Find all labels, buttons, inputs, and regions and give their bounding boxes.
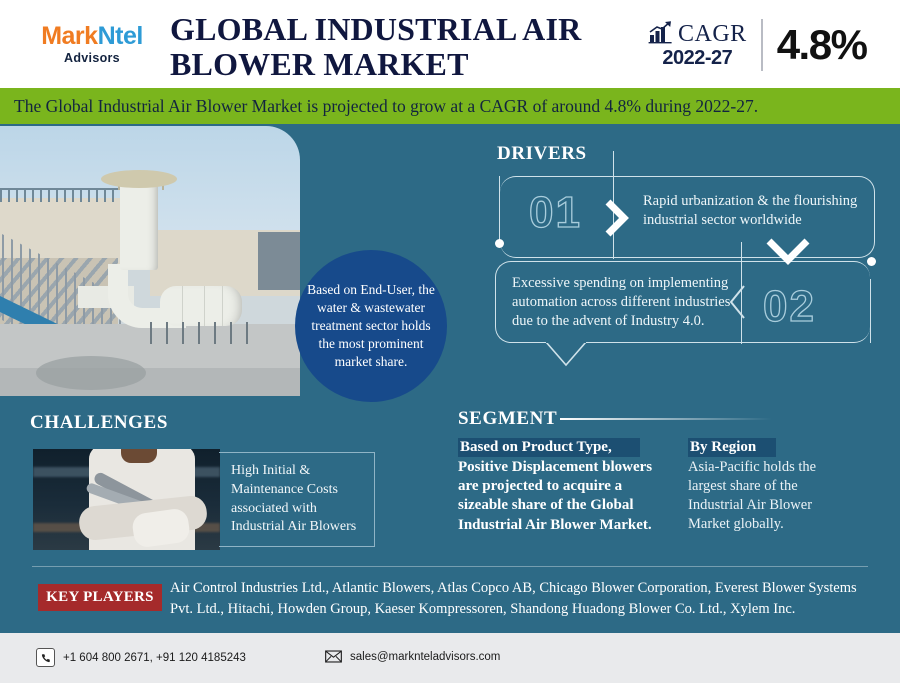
logo-part-mark: Mark	[41, 22, 97, 50]
driver-02-endpoint-dot	[867, 257, 876, 266]
footer-email[interactable]: sales@marknteladvisors.com	[325, 648, 500, 665]
driver-01-left-line	[499, 176, 500, 240]
cagr-block: CAGR 2022-27 4.8%	[648, 16, 866, 74]
infographic-page: MarkNtel Advisors GLOBAL INDUSTRIAL AIR …	[0, 0, 900, 683]
driver-02-number: 02	[763, 282, 816, 332]
highlight-banner: The Global Industrial Air Blower Market …	[0, 88, 900, 124]
photo-tank-seam	[222, 286, 223, 326]
challenges-photo	[33, 449, 220, 550]
photo-tank-seam	[182, 286, 183, 326]
logo-subtitle: Advisors	[22, 51, 162, 65]
challenges-heading: CHALLENGES	[30, 412, 168, 434]
chevron-right-icon	[604, 199, 630, 237]
segment-column-1-body: Asia-Pacific holds the largest share of …	[688, 458, 848, 533]
drivers-heading: DRIVERS	[497, 143, 587, 165]
photo-stack-cap	[101, 170, 177, 188]
driver-card-01: 01 Rapid urbanization & the flourishing …	[500, 176, 875, 258]
photo-support-legs	[150, 322, 250, 344]
driver-01-number: 01	[529, 188, 582, 238]
logo-wordmark: MarkNtel	[22, 24, 162, 49]
end-user-callout-text: Based on End-User, the water & wastewate…	[307, 281, 435, 370]
cagr-label-row: CAGR	[648, 20, 747, 49]
photo-railing-top	[0, 188, 118, 202]
banner-text: The Global Industrial Air Blower Market …	[0, 96, 758, 117]
footer-phone-text: +1 604 800 2671, +91 120 4185243	[63, 652, 246, 664]
segment-column-0-head: Based on Product Type,	[458, 438, 640, 457]
driver-card-02: 02 Excessive spending on implementing au…	[495, 261, 870, 343]
driver-01-text: Rapid urbanization & the flourishing ind…	[643, 192, 858, 230]
cagr-value: 4.8%	[777, 21, 867, 69]
footer: +1 604 800 2671, +91 120 4185243 sales@m…	[0, 633, 900, 683]
photo-blower-stack	[120, 182, 158, 270]
phone-icon	[36, 648, 55, 667]
segment-heading: SEGMENT	[458, 408, 557, 430]
driver-01-endpoint-dot	[495, 239, 504, 248]
key-players-badge: KEY PLAYERS	[38, 584, 162, 611]
segment-column-region: By Region Asia-Pacific holds the largest…	[688, 438, 848, 533]
key-players-list: Air Control Industries Ltd., Atlantic Bl…	[170, 578, 870, 619]
photo-tank-seam	[204, 286, 205, 326]
chevron-down-icon	[764, 238, 812, 266]
footer-phone[interactable]: +1 604 800 2671, +91 120 4185243	[36, 648, 246, 667]
cagr-label: CAGR	[678, 21, 747, 48]
driver-02-right-line	[870, 279, 871, 343]
cagr-period: 2022-27	[662, 47, 732, 70]
photo-tank	[160, 286, 242, 326]
brand-logo[interactable]: MarkNtel Advisors	[22, 24, 162, 65]
challenges-photo-collar	[121, 449, 157, 463]
speech-bubble-tail-icon	[544, 341, 588, 367]
envelope-icon	[325, 648, 342, 665]
bar-chart-growth-icon	[648, 20, 674, 49]
key-players-divider	[32, 566, 868, 567]
end-user-callout: Based on End-User, the water & wastewate…	[295, 250, 447, 402]
hero-photo	[0, 126, 300, 396]
photo-building-right	[258, 232, 300, 290]
cagr-divider	[761, 19, 763, 71]
segment-column-0-body: Positive Displacement blowers are projec…	[458, 458, 668, 535]
header: MarkNtel Advisors GLOBAL INDUSTRIAL AIR …	[0, 0, 900, 88]
driver-02-text: Excessive spending on implementing autom…	[512, 274, 734, 331]
cagr-label-group: CAGR 2022-27	[648, 20, 747, 70]
page-title: GLOBAL INDUSTRIAL AIR BLOWER MARKET	[170, 12, 630, 81]
photo-shadow	[36, 356, 146, 390]
segment-column-1-head: By Region	[688, 438, 776, 457]
challenges-text-box: High Initial & Maintenance Costs associa…	[219, 452, 375, 547]
footer-email-text: sales@marknteladvisors.com	[350, 651, 500, 663]
challenges-text: High Initial & Maintenance Costs associa…	[219, 462, 374, 538]
logo-part-ntel: Ntel	[98, 22, 143, 50]
segment-column-product-type: Based on Product Type, Positive Displace…	[458, 438, 668, 535]
segment-rule	[560, 418, 772, 420]
